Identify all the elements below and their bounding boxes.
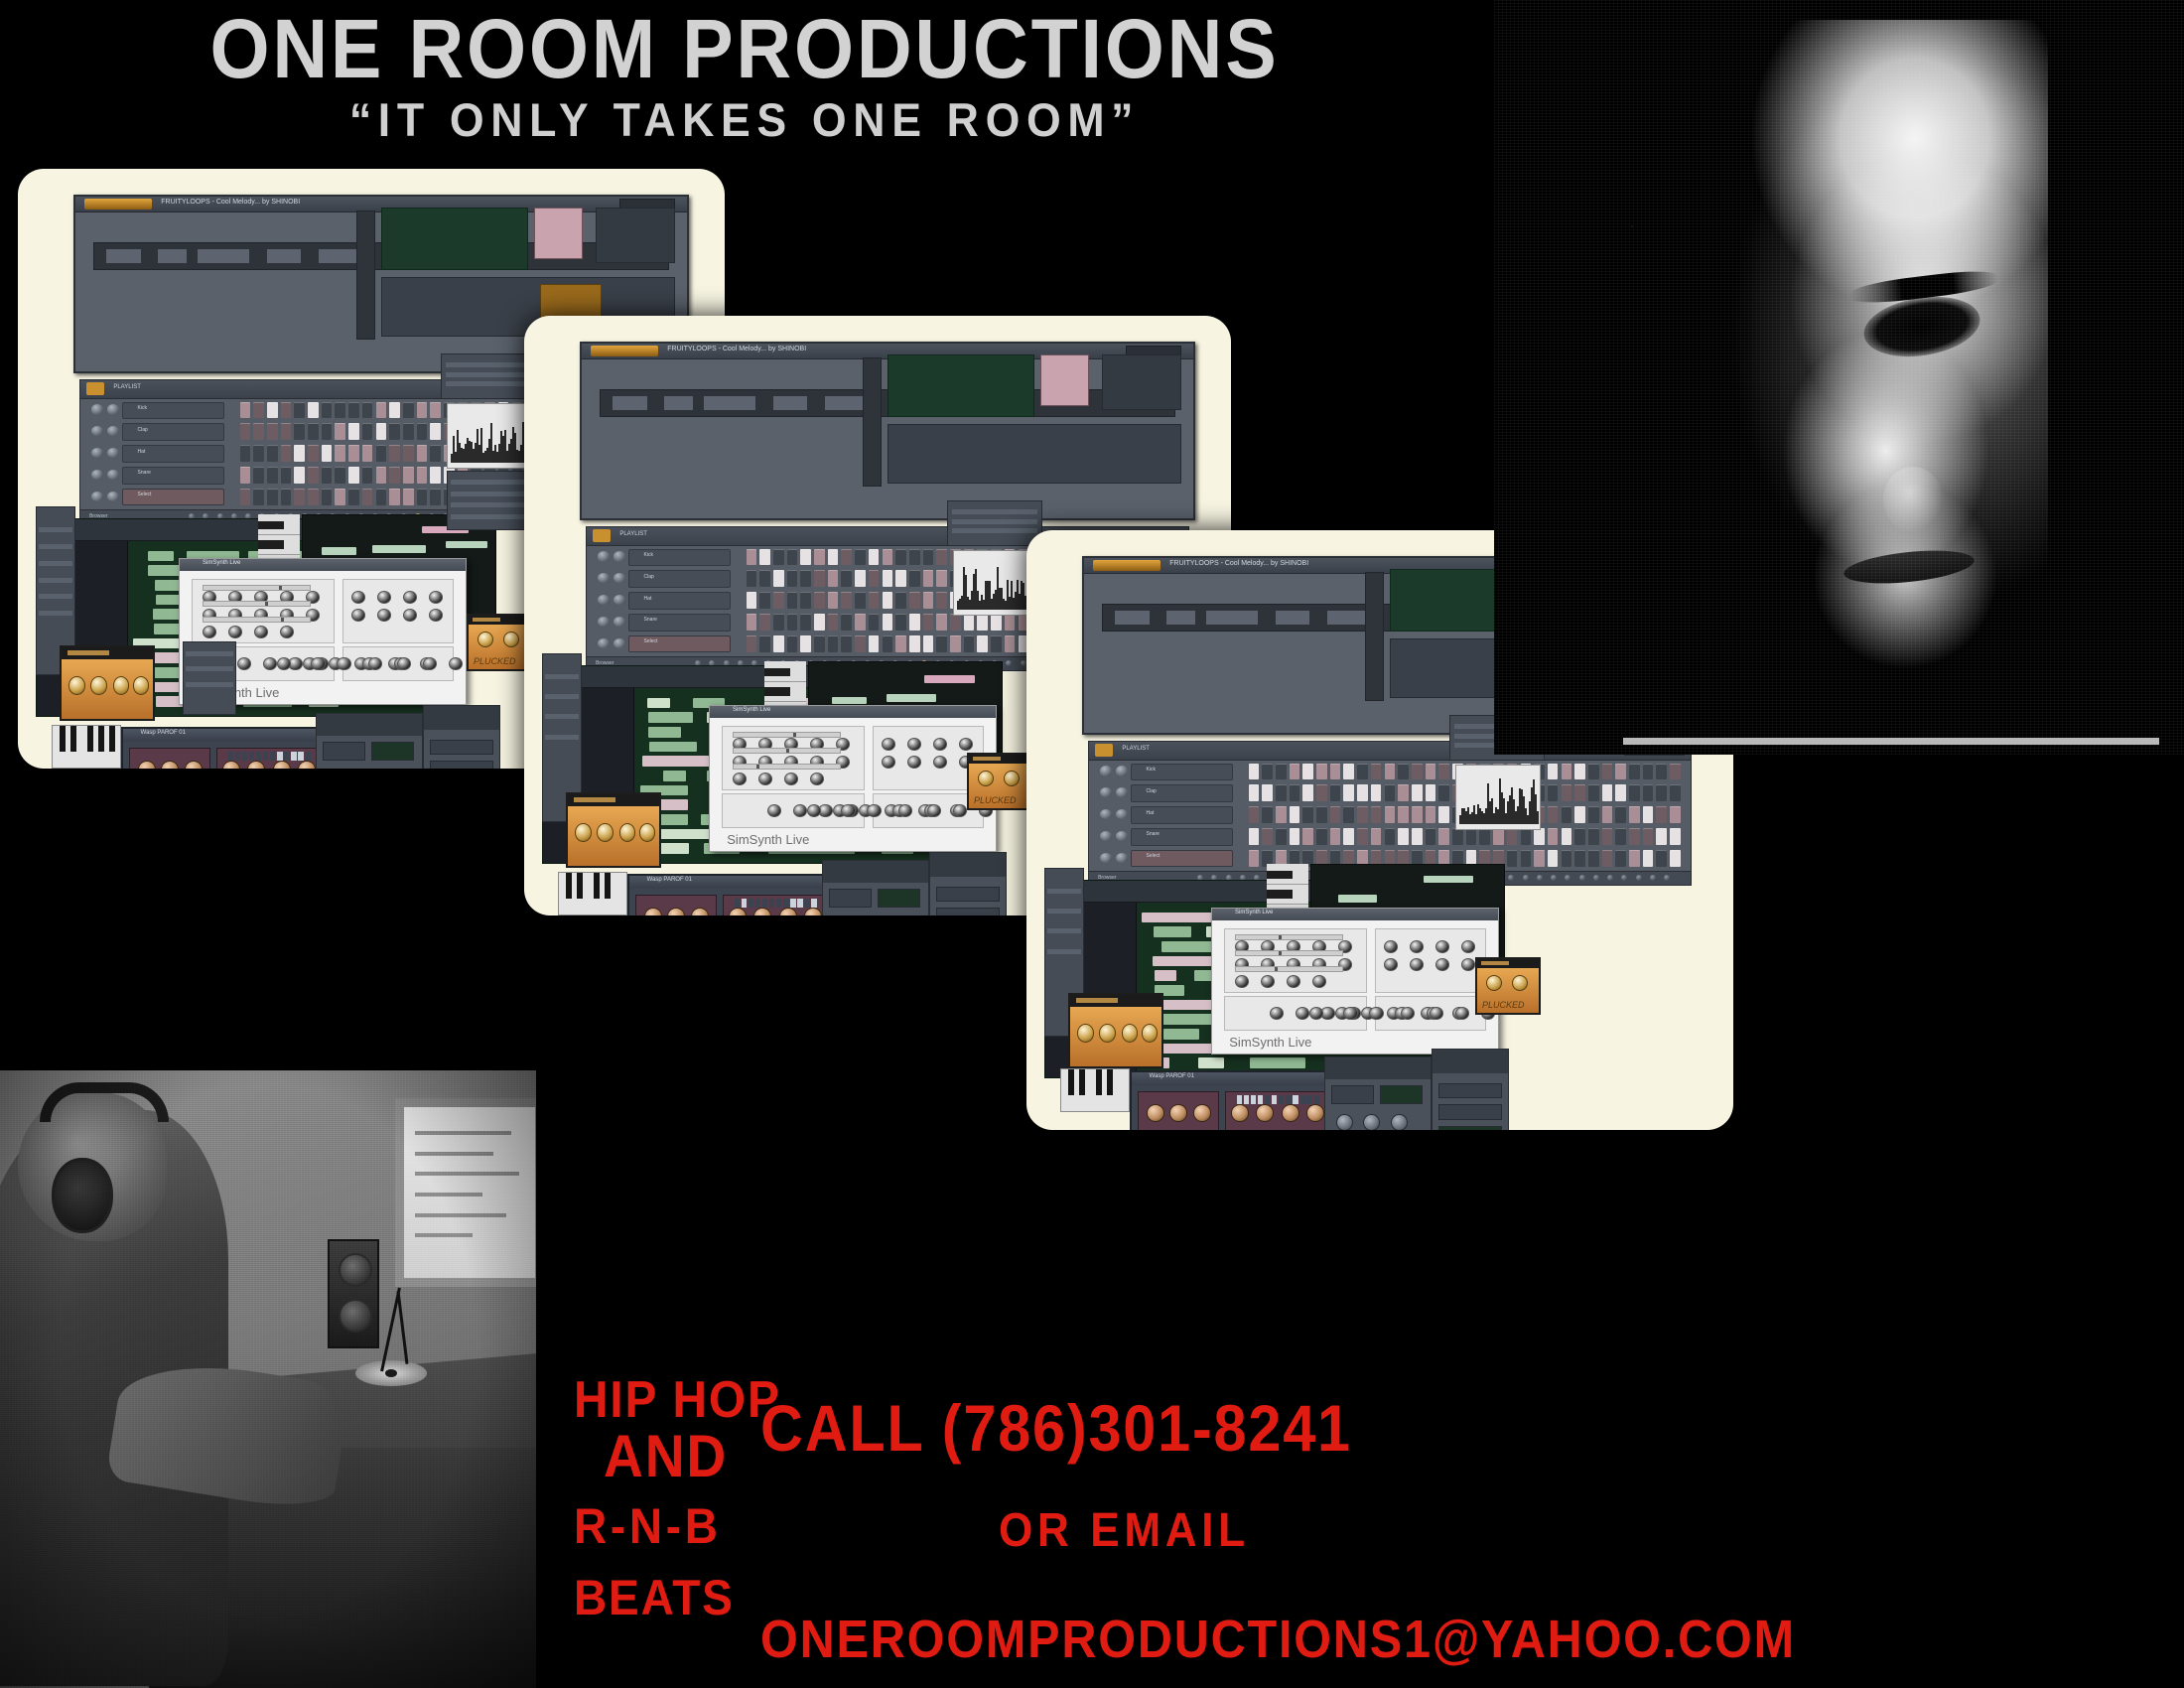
step-button[interactable] — [1357, 806, 1368, 823]
step-button[interactable] — [1385, 764, 1396, 780]
channel-knob[interactable] — [91, 448, 103, 458]
step-button[interactable] — [895, 549, 906, 566]
step-button[interactable] — [828, 549, 839, 566]
step-button[interactable] — [1615, 806, 1626, 823]
step-button[interactable] — [828, 592, 839, 609]
step-button[interactable] — [308, 489, 319, 505]
step-button[interactable] — [1302, 828, 1313, 845]
step-button[interactable] — [308, 467, 319, 484]
step-button[interactable] — [1629, 764, 1640, 780]
step-button[interactable] — [389, 445, 400, 462]
step-button[interactable] — [1385, 784, 1396, 801]
step-velocity-knob[interactable] — [1551, 875, 1557, 881]
step-button[interactable] — [1412, 784, 1423, 801]
step-button[interactable] — [281, 489, 292, 505]
wasp-wave-segment[interactable] — [256, 752, 261, 762]
simsynth-slider[interactable] — [203, 601, 311, 607]
step-button[interactable] — [1343, 764, 1354, 780]
step-button[interactable] — [869, 592, 880, 609]
step-button[interactable] — [1656, 850, 1667, 867]
step-velocity-knob[interactable] — [1508, 875, 1514, 881]
step-button[interactable] — [1602, 806, 1613, 823]
step-button[interactable] — [1548, 806, 1559, 823]
channel-name-button[interactable]: Clap — [628, 570, 731, 587]
wasp-knob[interactable] — [185, 761, 203, 769]
step-button[interactable] — [759, 635, 770, 652]
step-button[interactable] — [430, 402, 441, 419]
step-button[interactable] — [348, 423, 359, 440]
step-button[interactable] — [267, 402, 278, 419]
wasp-knob[interactable] — [779, 908, 797, 915]
simsynth-knob[interactable] — [907, 756, 921, 769]
step-button[interactable] — [936, 592, 947, 609]
step-button[interactable] — [814, 592, 825, 609]
step-button[interactable] — [1562, 784, 1572, 801]
step-button[interactable] — [253, 423, 264, 440]
simsynth-slider[interactable] — [1235, 934, 1343, 940]
step-velocity-knob[interactable] — [1537, 875, 1543, 881]
wasp-wave-segment[interactable] — [1251, 1095, 1256, 1105]
simsynth-knob[interactable] — [449, 657, 463, 670]
step-button[interactable] — [389, 423, 400, 440]
step-button[interactable] — [991, 635, 1002, 652]
step-button[interactable] — [335, 467, 345, 484]
step-button[interactable] — [294, 423, 305, 440]
step-button[interactable] — [1426, 764, 1436, 780]
step-button[interactable] — [1656, 806, 1667, 823]
step-button[interactable] — [909, 592, 920, 609]
step-button[interactable] — [1357, 828, 1368, 845]
wasp-wave-segment[interactable] — [1286, 1095, 1291, 1105]
inspector-panel-1[interactable] — [447, 471, 532, 530]
simsynth-slider[interactable] — [1235, 950, 1343, 956]
step-button[interactable] — [294, 489, 305, 505]
channel-knob[interactable] — [91, 492, 103, 501]
channel-knob[interactable] — [1100, 766, 1112, 775]
step-velocity-knob[interactable] — [1579, 875, 1585, 881]
channel-knob[interactable] — [1100, 809, 1112, 819]
wasp-wave-segment[interactable] — [811, 899, 816, 909]
step-button[interactable] — [773, 614, 784, 631]
step-button[interactable] — [1615, 784, 1626, 801]
playlist-clip[interactable] — [648, 712, 693, 723]
step-button[interactable] — [1643, 828, 1654, 845]
playlist-clip[interactable] — [1198, 1057, 1224, 1068]
step-button[interactable] — [1507, 850, 1518, 867]
step-button[interactable] — [1412, 828, 1423, 845]
step-button[interactable] — [417, 467, 428, 484]
channel-knob[interactable] — [1100, 787, 1112, 797]
step-button[interactable] — [253, 489, 264, 505]
step-button[interactable] — [936, 635, 947, 652]
step-button[interactable] — [759, 549, 770, 566]
step-button[interactable] — [773, 592, 784, 609]
step-button[interactable] — [1574, 828, 1585, 845]
channel-knob[interactable] — [91, 404, 103, 414]
step-button[interactable] — [240, 467, 251, 484]
channel-knob[interactable] — [598, 551, 610, 561]
playlist-clip[interactable] — [648, 727, 681, 738]
step-button[interactable] — [417, 445, 428, 462]
step-velocity-knob[interactable] — [1021, 660, 1026, 666]
step-button[interactable] — [1562, 828, 1572, 845]
step-button[interactable] — [335, 402, 345, 419]
simsynth-knob[interactable] — [1435, 958, 1449, 971]
step-button[interactable] — [787, 614, 798, 631]
simsynth-slider[interactable] — [733, 748, 841, 754]
step-button[interactable] — [1371, 806, 1382, 823]
step-button[interactable] — [936, 549, 947, 566]
step-button[interactable] — [828, 614, 839, 631]
channel-name-button[interactable]: Hat — [1131, 806, 1233, 823]
channel-name-button[interactable]: Kick — [1131, 764, 1233, 780]
step-button[interactable] — [909, 549, 920, 566]
playlist-clip[interactable] — [148, 551, 175, 562]
step-button[interactable] — [1615, 764, 1626, 780]
plucked-plugin-2[interactable]: PLUCKED — [967, 753, 1032, 810]
channel-knob[interactable] — [614, 638, 625, 648]
step-button[interactable] — [814, 635, 825, 652]
step-button[interactable] — [800, 592, 811, 609]
step-button[interactable] — [1574, 764, 1585, 780]
step-button[interactable] — [1643, 806, 1654, 823]
wasp-wave-segment[interactable] — [235, 752, 240, 762]
master-fader[interactable] — [1365, 572, 1383, 701]
step-button[interactable] — [1330, 764, 1341, 780]
step-button[interactable] — [1670, 764, 1681, 780]
step-button[interactable] — [814, 614, 825, 631]
step-button[interactable] — [376, 467, 387, 484]
step-button[interactable] — [240, 445, 251, 462]
channel-knob[interactable] — [1116, 831, 1128, 841]
keyboard-strip-1[interactable] — [52, 725, 121, 769]
tool-buttons-group[interactable] — [596, 208, 675, 263]
step-button[interactable] — [1479, 828, 1490, 845]
channel-settings-1[interactable] — [183, 641, 236, 715]
step-button[interactable] — [1438, 806, 1449, 823]
step-button[interactable] — [977, 614, 988, 631]
fruityloops-main-window-2[interactable]: FRUITYLOOPS - Cool Melody... by SHINOBI — [580, 342, 1195, 520]
step-button[interactable] — [403, 489, 414, 505]
simsynth-slider[interactable] — [1235, 966, 1343, 972]
wasp-wave-segment[interactable] — [298, 752, 303, 762]
step-button[interactable] — [1656, 764, 1667, 780]
step-button[interactable] — [267, 489, 278, 505]
step-button[interactable] — [1343, 784, 1354, 801]
step-button[interactable] — [895, 614, 906, 631]
step-button[interactable] — [1534, 828, 1545, 845]
step-button[interactable] — [1343, 806, 1354, 823]
step-velocity-knob[interactable] — [1636, 875, 1642, 881]
step-button[interactable] — [1290, 828, 1300, 845]
step-button[interactable] — [1302, 806, 1313, 823]
channel-knob[interactable] — [107, 470, 119, 480]
step-button[interactable] — [1629, 828, 1640, 845]
step-button[interactable] — [1521, 850, 1532, 867]
channel-name-button[interactable]: Hat — [628, 592, 731, 609]
step-button[interactable] — [430, 423, 441, 440]
step-button[interactable] — [362, 489, 373, 505]
step-velocity-knob[interactable] — [1621, 875, 1627, 881]
step-button[interactable] — [895, 570, 906, 587]
step-button[interactable] — [322, 402, 333, 419]
step-button[interactable] — [403, 467, 414, 484]
step-button[interactable] — [1602, 850, 1613, 867]
wasp-wave-segment[interactable] — [1237, 1095, 1242, 1105]
channel-knob[interactable] — [598, 573, 610, 583]
effects-small-panel-1[interactable] — [441, 353, 536, 399]
step-button[interactable] — [389, 489, 400, 505]
step-button[interactable] — [1588, 806, 1599, 823]
effects-rack-3[interactable] — [1432, 1049, 1509, 1130]
step-button[interactable] — [1548, 850, 1559, 867]
step-button[interactable] — [376, 423, 387, 440]
step-button[interactable] — [322, 423, 333, 440]
step-button[interactable] — [883, 592, 893, 609]
step-button[interactable] — [869, 635, 880, 652]
step-button[interactable] — [787, 570, 798, 587]
step-button[interactable] — [362, 423, 373, 440]
step-button[interactable] — [403, 423, 414, 440]
step-button[interactable] — [855, 592, 866, 609]
step-button[interactable] — [1670, 850, 1681, 867]
wasp-knob[interactable] — [1193, 1104, 1211, 1122]
step-button[interactable] — [1316, 764, 1327, 780]
step-button[interactable] — [1602, 828, 1613, 845]
plucked-plugin-2b[interactable] — [566, 792, 661, 868]
playlist-clip[interactable] — [647, 698, 670, 709]
wasp-knob[interactable] — [804, 908, 822, 915]
step-button[interactable] — [828, 570, 839, 587]
step-button[interactable] — [389, 467, 400, 484]
channel-knob[interactable] — [614, 573, 625, 583]
wasp-wave-segment[interactable] — [1272, 1095, 1277, 1105]
step-button[interactable] — [1276, 806, 1287, 823]
step-button[interactable] — [800, 549, 811, 566]
step-button[interactable] — [376, 445, 387, 462]
wasp-wave-segment[interactable] — [769, 899, 774, 909]
step-button[interactable] — [240, 423, 251, 440]
step-button[interactable] — [964, 635, 975, 652]
step-button[interactable] — [1588, 850, 1599, 867]
step-button[interactable] — [747, 592, 757, 609]
step-button[interactable] — [787, 592, 798, 609]
mixer-rack-2[interactable] — [822, 860, 929, 915]
step-button[interactable] — [389, 402, 400, 419]
wasp-wave-segment[interactable] — [270, 752, 275, 762]
simsynth-slider[interactable] — [203, 617, 311, 623]
wasp-wave-segment[interactable] — [1313, 1095, 1318, 1105]
step-button[interactable] — [281, 467, 292, 484]
wasp-wave-segment[interactable] — [249, 752, 254, 762]
step-button[interactable] — [909, 635, 920, 652]
step-button[interactable] — [1249, 806, 1260, 823]
step-button[interactable] — [322, 445, 333, 462]
simsynth-knob[interactable] — [1384, 958, 1398, 971]
channel-name-button[interactable]: Select — [628, 635, 731, 652]
step-button[interactable] — [923, 592, 934, 609]
step-button[interactable] — [841, 614, 852, 631]
step-button[interactable] — [1507, 828, 1518, 845]
effects-rack-2[interactable] — [929, 852, 1007, 915]
transport-controls[interactable] — [887, 424, 1181, 484]
channel-name-button[interactable]: Snare — [628, 614, 731, 631]
step-button[interactable] — [869, 614, 880, 631]
wasp-wave-segment[interactable] — [762, 899, 767, 909]
step-button[interactable] — [1588, 764, 1599, 780]
step-velocity-knob[interactable] — [1607, 875, 1613, 881]
simsynth-window-2[interactable]: SimSynth Live SimSynth Live — [709, 705, 997, 852]
step-button[interactable] — [1398, 764, 1409, 780]
step-button[interactable] — [909, 614, 920, 631]
step-button[interactable] — [1371, 764, 1382, 780]
channel-name-button[interactable]: Kick — [628, 549, 731, 566]
channel-knob[interactable] — [1116, 853, 1128, 863]
simsynth-slider[interactable] — [733, 764, 841, 770]
wasp-wave-segment[interactable] — [776, 899, 781, 909]
wasp-knob[interactable] — [138, 761, 156, 769]
channel-knob[interactable] — [1116, 766, 1128, 775]
step-button[interactable] — [1005, 614, 1016, 631]
step-button[interactable] — [883, 549, 893, 566]
step-button[interactable] — [1438, 784, 1449, 801]
step-button[interactable] — [267, 445, 278, 462]
step-button[interactable] — [1574, 850, 1585, 867]
step-button[interactable] — [1385, 806, 1396, 823]
channel-name-button[interactable]: Clap — [1131, 784, 1233, 801]
wasp-wave-segment[interactable] — [1258, 1095, 1263, 1105]
step-button[interactable] — [1276, 828, 1287, 845]
step-button[interactable] — [787, 635, 798, 652]
step-button[interactable] — [1466, 828, 1477, 845]
channel-name-button[interactable]: Snare — [122, 467, 224, 484]
playlist-clip[interactable] — [1157, 1000, 1215, 1011]
step-button[interactable] — [787, 549, 798, 566]
wasp-wave-segment[interactable] — [790, 899, 795, 909]
wasp-wave-segment[interactable] — [1299, 1095, 1304, 1105]
wasp-knob[interactable] — [298, 761, 316, 769]
channel-knob[interactable] — [614, 617, 625, 627]
master-fader[interactable] — [356, 211, 374, 340]
step-button[interactable] — [348, 402, 359, 419]
step-button[interactable] — [950, 614, 961, 631]
channel-knob[interactable] — [107, 448, 119, 458]
wasp-wave-segment[interactable] — [263, 752, 268, 762]
step-button[interactable] — [348, 467, 359, 484]
simsynth-knob[interactable] — [429, 591, 443, 604]
step-button[interactable] — [335, 445, 345, 462]
step-button[interactable] — [362, 445, 373, 462]
step-button[interactable] — [403, 445, 414, 462]
playlist-clip[interactable] — [1250, 1057, 1305, 1068]
step-button[interactable] — [1548, 764, 1559, 780]
wasp-knob[interactable] — [1147, 1104, 1164, 1122]
step-button[interactable] — [1643, 850, 1654, 867]
step-button[interactable] — [841, 570, 852, 587]
step-button[interactable] — [253, 445, 264, 462]
channel-name-button[interactable]: Select — [1131, 850, 1233, 867]
step-button[interactable] — [841, 635, 852, 652]
step-button[interactable] — [1262, 828, 1273, 845]
simsynth-knob[interactable] — [933, 756, 947, 769]
step-button[interactable] — [869, 570, 880, 587]
step-button[interactable] — [1656, 784, 1667, 801]
step-button[interactable] — [1588, 828, 1599, 845]
phone-number-label[interactable]: CALL (786)301-8241 — [760, 1390, 1352, 1466]
step-button[interactable] — [376, 402, 387, 419]
step-button[interactable] — [883, 570, 893, 587]
playlist-clip[interactable] — [1155, 970, 1177, 981]
step-button[interactable] — [855, 549, 866, 566]
simsynth-knob[interactable] — [351, 609, 365, 622]
step-button[interactable] — [362, 467, 373, 484]
simsynth-knob[interactable] — [429, 609, 443, 622]
wasp-wave-segment[interactable] — [1306, 1095, 1311, 1105]
step-button[interactable] — [267, 423, 278, 440]
step-velocity-knob[interactable] — [1006, 660, 1012, 666]
step-button[interactable] — [1562, 764, 1572, 780]
step-button[interactable] — [773, 549, 784, 566]
step-button[interactable] — [936, 614, 947, 631]
wasp-wave-segment[interactable] — [284, 752, 289, 762]
simsynth-knob[interactable] — [377, 609, 391, 622]
step-button[interactable] — [1398, 806, 1409, 823]
step-button[interactable] — [240, 489, 251, 505]
step-button[interactable] — [1670, 806, 1681, 823]
step-button[interactable] — [814, 570, 825, 587]
step-button[interactable] — [1588, 784, 1599, 801]
step-button[interactable] — [1452, 828, 1463, 845]
step-button[interactable] — [1602, 764, 1613, 780]
step-button[interactable] — [800, 570, 811, 587]
step-button[interactable] — [855, 570, 866, 587]
step-button[interactable] — [1574, 806, 1585, 823]
step-button[interactable] — [759, 614, 770, 631]
step-button[interactable] — [1302, 764, 1313, 780]
step-button[interactable] — [1629, 784, 1640, 801]
step-button[interactable] — [1357, 784, 1368, 801]
step-button[interactable] — [1412, 806, 1423, 823]
step-button[interactable] — [1316, 806, 1327, 823]
simsynth-knob[interactable] — [403, 609, 417, 622]
email-address-label[interactable]: ONEROOMPRODUCTIONS1@YAHOO.COM — [760, 1609, 1796, 1670]
step-button[interactable] — [883, 614, 893, 631]
step-button[interactable] — [1316, 784, 1327, 801]
wasp-knob[interactable] — [1282, 1104, 1299, 1122]
step-button[interactable] — [294, 445, 305, 462]
channel-knob[interactable] — [614, 595, 625, 605]
step-button[interactable] — [1249, 850, 1260, 867]
wasp-wave-segment[interactable] — [242, 752, 247, 762]
channel-knob[interactable] — [614, 551, 625, 561]
step-button[interactable] — [253, 402, 264, 419]
step-button[interactable] — [1670, 828, 1681, 845]
step-button[interactable] — [1316, 828, 1327, 845]
playlist-clip[interactable] — [1154, 926, 1191, 937]
step-velocity-knob[interactable] — [1650, 875, 1656, 881]
step-button[interactable] — [869, 549, 880, 566]
step-button[interactable] — [1643, 784, 1654, 801]
simsynth-slider[interactable] — [733, 732, 841, 738]
step-button[interactable] — [1357, 764, 1368, 780]
step-button[interactable] — [294, 467, 305, 484]
step-button[interactable] — [747, 635, 757, 652]
wasp-wave-segment[interactable] — [1279, 1095, 1284, 1105]
step-button[interactable] — [362, 402, 373, 419]
step-button[interactable] — [1426, 806, 1436, 823]
step-button[interactable] — [281, 423, 292, 440]
channel-knob[interactable] — [1116, 787, 1128, 797]
